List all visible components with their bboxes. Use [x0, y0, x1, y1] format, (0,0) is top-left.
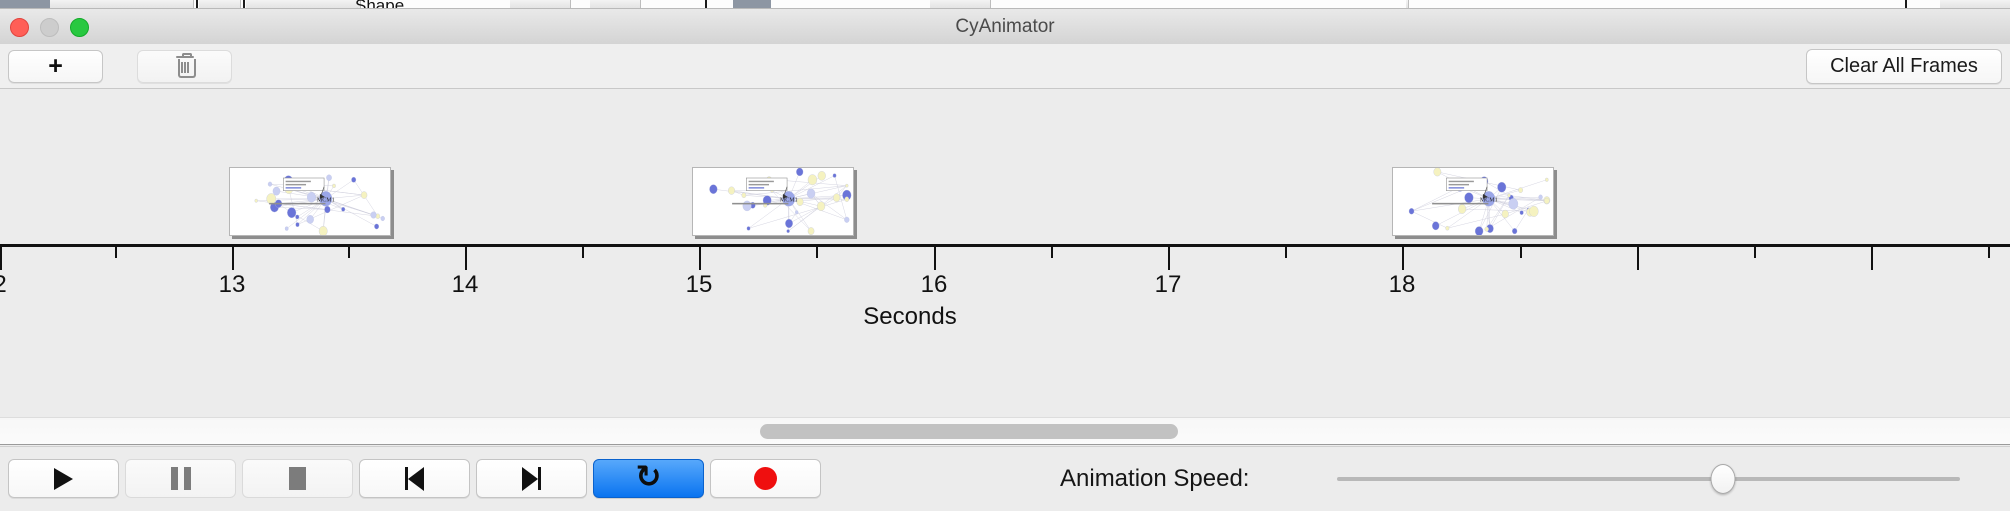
ruler-tick — [1871, 247, 1873, 270]
ruler-tick — [934, 247, 936, 270]
ruler-tick — [115, 247, 117, 258]
svg-text:MCM1: MCM1 — [1480, 197, 1498, 203]
cyanimator-window: Shape CyAnimator + — [0, 0, 2010, 510]
pause-button[interactable] — [125, 459, 236, 498]
ruler-tick-label: 2 — [0, 271, 7, 299]
ruler-tick — [1402, 247, 1404, 270]
frame-thumbnails: MCM1MCM1MCM1 — [0, 89, 2010, 244]
pause-icon — [171, 467, 191, 490]
playback-controls-bar: ↻ Animation Speed: — [0, 446, 2010, 511]
scrollbar-thumb[interactable] — [760, 424, 1178, 439]
ruler-tick — [1988, 247, 1990, 258]
play-icon — [54, 468, 73, 490]
frame-thumbnail[interactable]: MCM1 — [692, 167, 854, 236]
ruler-tick-label: 14 — [452, 271, 479, 299]
ruler-tick-label: 16 — [921, 271, 948, 299]
ruler-tick — [1520, 247, 1522, 258]
skip-previous-icon — [405, 467, 424, 491]
ruler-tick-label: 15 — [686, 271, 713, 299]
next-frame-button[interactable] — [476, 459, 587, 498]
ruler-tick — [1754, 247, 1756, 258]
title-bar[interactable]: CyAnimator — [0, 9, 2010, 45]
frame-thumbnail[interactable]: MCM1 — [229, 167, 391, 236]
plus-icon: + — [48, 54, 63, 79]
ruler-tick — [1637, 247, 1639, 270]
ruler-tick-label: 13 — [219, 271, 246, 299]
svg-text:MCM1: MCM1 — [780, 197, 798, 203]
play-button[interactable] — [8, 459, 119, 498]
previous-frame-button[interactable] — [359, 459, 470, 498]
animation-speed-label: Animation Speed: — [1060, 459, 1249, 498]
loop-icon: ↻ — [636, 465, 662, 493]
animation-speed-slider[interactable] — [1337, 477, 1960, 481]
ruler-tick — [232, 247, 234, 270]
stop-button[interactable] — [242, 459, 353, 498]
clear-all-frames-button[interactable]: Clear All Frames — [1806, 49, 2002, 84]
timeline-panel[interactable]: MCM1MCM1MCM1 2131415161718 Seconds — [0, 89, 2010, 417]
slider-track[interactable] — [1337, 477, 1960, 481]
ruler-tick — [816, 247, 818, 258]
ruler-tick — [1051, 247, 1053, 258]
record-button[interactable] — [710, 459, 821, 498]
ruler-tick — [1285, 247, 1287, 258]
timeline-horizontal-scrollbar[interactable] — [0, 417, 2010, 445]
svg-text:MCM1: MCM1 — [317, 197, 335, 203]
ruler-tick-label: 17 — [1155, 271, 1182, 299]
record-icon — [754, 467, 777, 490]
axis-title: Seconds — [0, 303, 2010, 331]
skip-next-icon — [522, 467, 541, 491]
delete-frame-button[interactable] — [137, 50, 232, 83]
axis-title-label: Seconds — [863, 303, 956, 330]
slider-thumb[interactable] — [1711, 464, 1736, 494]
trash-icon — [176, 56, 194, 77]
add-frame-button[interactable]: + — [8, 50, 103, 83]
ruler-tick — [348, 247, 350, 258]
ruler-tick — [699, 247, 701, 270]
ruler-tick-label: 18 — [1389, 271, 1416, 299]
frame-thumbnail[interactable]: MCM1 — [1392, 167, 1554, 236]
window-title: CyAnimator — [0, 9, 2010, 44]
toolbar: + Clear All Frames — [0, 44, 2010, 89]
ruler-axis-line — [0, 244, 2010, 247]
ruler-tick — [0, 247, 2, 270]
stop-icon — [289, 467, 306, 490]
ruler-tick — [1168, 247, 1170, 270]
ruler-tick — [465, 247, 467, 270]
loop-button[interactable]: ↻ — [593, 459, 704, 498]
ruler-tick — [582, 247, 584, 258]
